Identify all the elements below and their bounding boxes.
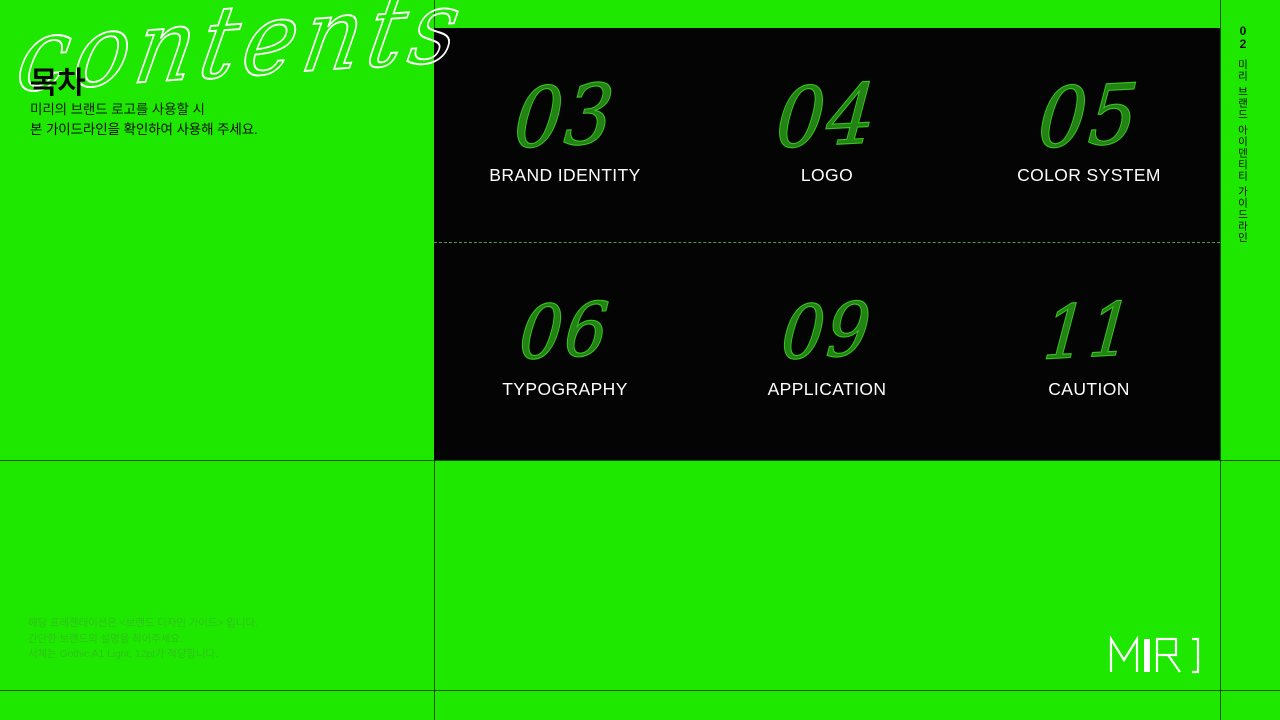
toc-item-typography[interactable]: 06 TYPOGRAPHY	[434, 242, 696, 460]
toc-number: 09	[779, 296, 875, 367]
toc-item-caution[interactable]: 11 CAUTION	[958, 242, 1220, 460]
toc-item-color-system[interactable]: 05 COLOR SYSTEM	[958, 28, 1220, 242]
footer-note: 해당 프레젠테이션은 <브랜드 디자인 가이드> 입니다. 간단한 브랜드의 설…	[28, 616, 258, 663]
slide-canvas: contents 목차 미리의 브랜드 로고를 사용할 시 본 가이드라인을 확…	[0, 0, 1280, 720]
toc-label: LOGO	[801, 165, 853, 186]
toc-label: BRAND IDENTITY	[489, 165, 640, 186]
footer-note-line-2: 간단한 브랜드의 설명을 적어주세요.	[28, 632, 258, 648]
toc-item-logo[interactable]: 04 LOGO	[696, 28, 958, 242]
page-subtitle-line-2: 본 가이드라인을 확인하여 사용해 주세요.	[30, 120, 258, 140]
toc-label: TYPOGRAPHY	[502, 379, 628, 400]
sidebar-caption: 02 미리 브랜드 아이덴티티 가이드라인	[1233, 24, 1253, 243]
toc-label: CAUTION	[1048, 379, 1130, 400]
page-subtitle-line-1: 미리의 브랜드 로고를 사용할 시	[30, 100, 258, 120]
header-block: contents 목차 미리의 브랜드 로고를 사용할 시 본 가이드라인을 확…	[30, 0, 410, 150]
sidebar-caption-text: 미리 브랜드 아이덴티티 가이드라인	[1236, 59, 1251, 243]
toc-number: 06	[517, 296, 613, 367]
toc-label: APPLICATION	[768, 379, 887, 400]
toc-number: 04	[773, 78, 880, 158]
page-subtitle: 미리의 브랜드 로고를 사용할 시 본 가이드라인을 확인하여 사용해 주세요.	[30, 100, 258, 140]
guide-line-vertical-right	[1220, 0, 1221, 720]
page-number: 02	[1236, 24, 1250, 50]
page-title: 목차	[30, 58, 85, 102]
guide-line-horizontal-mid	[0, 460, 1280, 461]
table-of-contents: 03 BRAND IDENTITY 04 LOGO 05 COLOR SYSTE…	[434, 28, 1220, 460]
toc-number: 05	[1035, 78, 1142, 158]
toc-label: COLOR SYSTEM	[1017, 165, 1161, 186]
brand-logo-miri	[1108, 636, 1204, 674]
toc-item-brand-identity[interactable]: 03 BRAND IDENTITY	[434, 28, 696, 242]
toc-item-application[interactable]: 09 APPLICATION	[696, 242, 958, 460]
footer-note-line-1: 해당 프레젠테이션은 <브랜드 디자인 가이드> 입니다.	[28, 616, 258, 632]
footer-note-line-3: 서체는 Gothic A1 Light, 12pt가 적당합니다.	[28, 647, 258, 663]
toc-number: 11	[1041, 296, 1137, 367]
guide-line-horizontal-bottom	[0, 690, 1280, 691]
toc-number: 03	[511, 78, 618, 158]
